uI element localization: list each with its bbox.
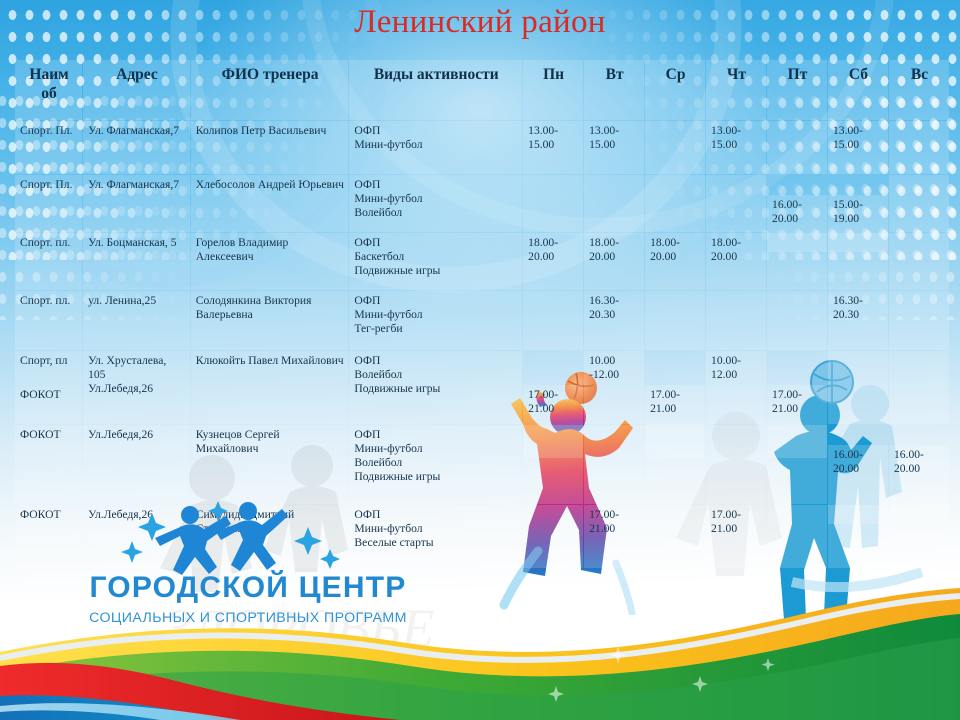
cell-trainer: Хлебосолов Андрей Юрьевич (191, 175, 349, 232)
cell-sun (889, 121, 949, 174)
cell-sat: 13.00-15.00 (828, 121, 888, 174)
activity-item: ОФП (354, 178, 518, 192)
cell-thu: 10.00-12.00 (706, 351, 766, 424)
cell-mon: 13.00-15.00 (523, 121, 583, 174)
activity-item: ОФП (354, 236, 518, 250)
cell-thu (706, 425, 766, 504)
activity-item: ОФП (354, 294, 518, 308)
column-header-fri: Пт (767, 60, 827, 120)
column-header-thu: Чт (706, 60, 766, 120)
cell-address: Ул.Лебедя,26 (83, 425, 190, 504)
activity-item: Мини-футбол (354, 192, 518, 206)
cell-tue: 18.00-20.00 (584, 233, 644, 290)
cell-sat: 16.30-20.30 (828, 291, 888, 350)
cell-name: ФОКОТ (15, 425, 82, 504)
column-header-address: Адрес (83, 60, 190, 120)
cell-sun (889, 175, 949, 232)
cell-thu: 17.00-21.00 (706, 505, 766, 568)
cell-tue: 16.30-20.30 (584, 291, 644, 350)
activity-item: Мини-футбол (354, 138, 518, 152)
cell-fri (767, 291, 827, 350)
cell-thu: 13.00-15.00 (706, 121, 766, 174)
cell-name: Спорт, пл ФОКОТ (15, 351, 82, 424)
cell-activities: ОФПМини-футболВолейболПодвижные игры (349, 425, 522, 504)
cell-fri: 17.00-21.00 (767, 385, 827, 458)
cell-sat (828, 351, 888, 424)
schedule-table: Наим об Адрес ФИО тренера Виды активност… (14, 59, 950, 569)
activity-item: Волейбол (354, 206, 518, 220)
column-header-sat: Сб (828, 60, 888, 120)
cell-trainer: Горелов Владимир Алексеевич (191, 233, 349, 290)
cell-tue: 13.00-15.00 (584, 121, 644, 174)
cell-fri (767, 121, 827, 174)
cell-activities: ОФПМини-футболВолейбол (349, 175, 522, 232)
decorative-wave-band (0, 580, 960, 720)
activity-item: Тег-регби (354, 322, 518, 336)
activity-item: Мини-футбол (354, 442, 518, 456)
cell-fri: 16.00-20.00 (767, 195, 827, 252)
cell-address-line1: Ул. Хрусталева, 105 (88, 354, 186, 382)
cell-sun: 16.00-20.00 (889, 445, 949, 524)
table-header-row: Наим об Адрес ФИО тренера Виды активност… (15, 60, 949, 120)
cell-address: Ул. Флагманская,7 (83, 121, 190, 174)
cell-activities: ОФПБаскетболПодвижные игры (349, 233, 522, 290)
cell-fri (767, 505, 827, 568)
cell-sun (889, 291, 949, 350)
cell-wed (645, 121, 705, 174)
cell-trainer: Клюкойть Павел Михайлович (191, 351, 349, 424)
cell-mon (523, 505, 583, 568)
column-header-trainer: ФИО тренера (191, 60, 349, 120)
activity-item: Подвижные игры (354, 264, 518, 278)
cell-wed: 17.00-21.00 (645, 385, 705, 458)
cell-name: Спорт. Пл. (15, 121, 82, 174)
cell-trainer: Кузнецов Сергей Михайлович (191, 425, 349, 504)
table-row: Спорт. Пл. Ул. Флагманская,7 Хлебосолов … (15, 175, 949, 232)
table-row: Спорт, пл ФОКОТ Ул. Хрусталева, 105 Ул.Л… (15, 351, 949, 424)
cell-tue (584, 425, 644, 504)
column-header-name: Наим об (15, 60, 82, 120)
activity-item: ОФП (354, 354, 518, 368)
cell-address: Ул. Боцманская, 5 (83, 233, 190, 290)
cell-address: Ул. Флагманская,7 (83, 175, 190, 232)
activity-item: Волейбол (354, 456, 518, 470)
cell-tue: 17.00-21.00 (584, 505, 644, 568)
cell-sun (889, 351, 949, 424)
cell-name: Спорт. пл. (15, 291, 82, 350)
cell-name: Спорт. пл. (15, 233, 82, 290)
column-header-mon: Пн (523, 60, 583, 120)
cell-name-line2: ФОКОТ (20, 388, 78, 402)
cell-address: ул. Ленина,25 (83, 291, 190, 350)
activity-item: Баскетбол (354, 250, 518, 264)
table-row: Спорт. Пл. Ул. Флагманская,7 Колипов Пет… (15, 121, 949, 174)
column-header-activities: Виды активности (349, 60, 522, 120)
cell-mon (523, 291, 583, 350)
cell-sun (889, 233, 949, 290)
page-title: Ленинский район (0, 4, 960, 41)
cell-activities: ОФПМини-футболТег-регби (349, 291, 522, 350)
table-row: Спорт. пл. ул. Ленина,25 Солодянкина Вик… (15, 291, 949, 350)
cell-address-line2: Ул.Лебедя,26 (88, 382, 186, 396)
column-header-tue: Вт (584, 60, 644, 120)
cell-sat: 16.00-20.00 (828, 445, 888, 524)
cell-wed: 18.00-20.00 (645, 233, 705, 290)
cell-mon (523, 175, 583, 232)
activity-item: Мини-футбол (354, 308, 518, 322)
cell-tue: 10.00 -12.00 (584, 351, 644, 424)
activity-item: Подвижные игры (354, 382, 518, 396)
cell-wed (645, 505, 705, 568)
cell-address: Ул. Хрусталева, 105 Ул.Лебедя,26 (83, 351, 190, 424)
column-header-wed: Ср (645, 60, 705, 120)
cell-mon: 17.00-21.00 (523, 385, 583, 458)
activity-item: Подвижные игры (354, 470, 518, 484)
cell-thu (706, 175, 766, 232)
column-header-sun: Вс (889, 60, 949, 120)
cell-tue (584, 175, 644, 232)
cell-trainer: Колипов Петр Васильевич (191, 121, 349, 174)
cell-mon: 18.00-20.00 (523, 233, 583, 290)
cell-thu: 18.00-20.00 (706, 233, 766, 290)
cell-wed (645, 291, 705, 350)
cell-trainer: Солодянкина Виктория Валерьевна (191, 291, 349, 350)
cell-name: Спорт. Пл. (15, 175, 82, 232)
cell-activities: ОФПВолейболПодвижные игры (349, 351, 522, 424)
cell-thu (706, 291, 766, 350)
cell-name-line1: Спорт, пл (20, 354, 78, 368)
cell-sat: 15.00-19.00 (828, 195, 888, 252)
activity-item: ОФП (354, 124, 518, 138)
activity-item: ОФП (354, 428, 518, 442)
activity-item: Волейбол (354, 368, 518, 382)
cell-wed (645, 175, 705, 232)
cell-activities: ОФПМини-футбол (349, 121, 522, 174)
